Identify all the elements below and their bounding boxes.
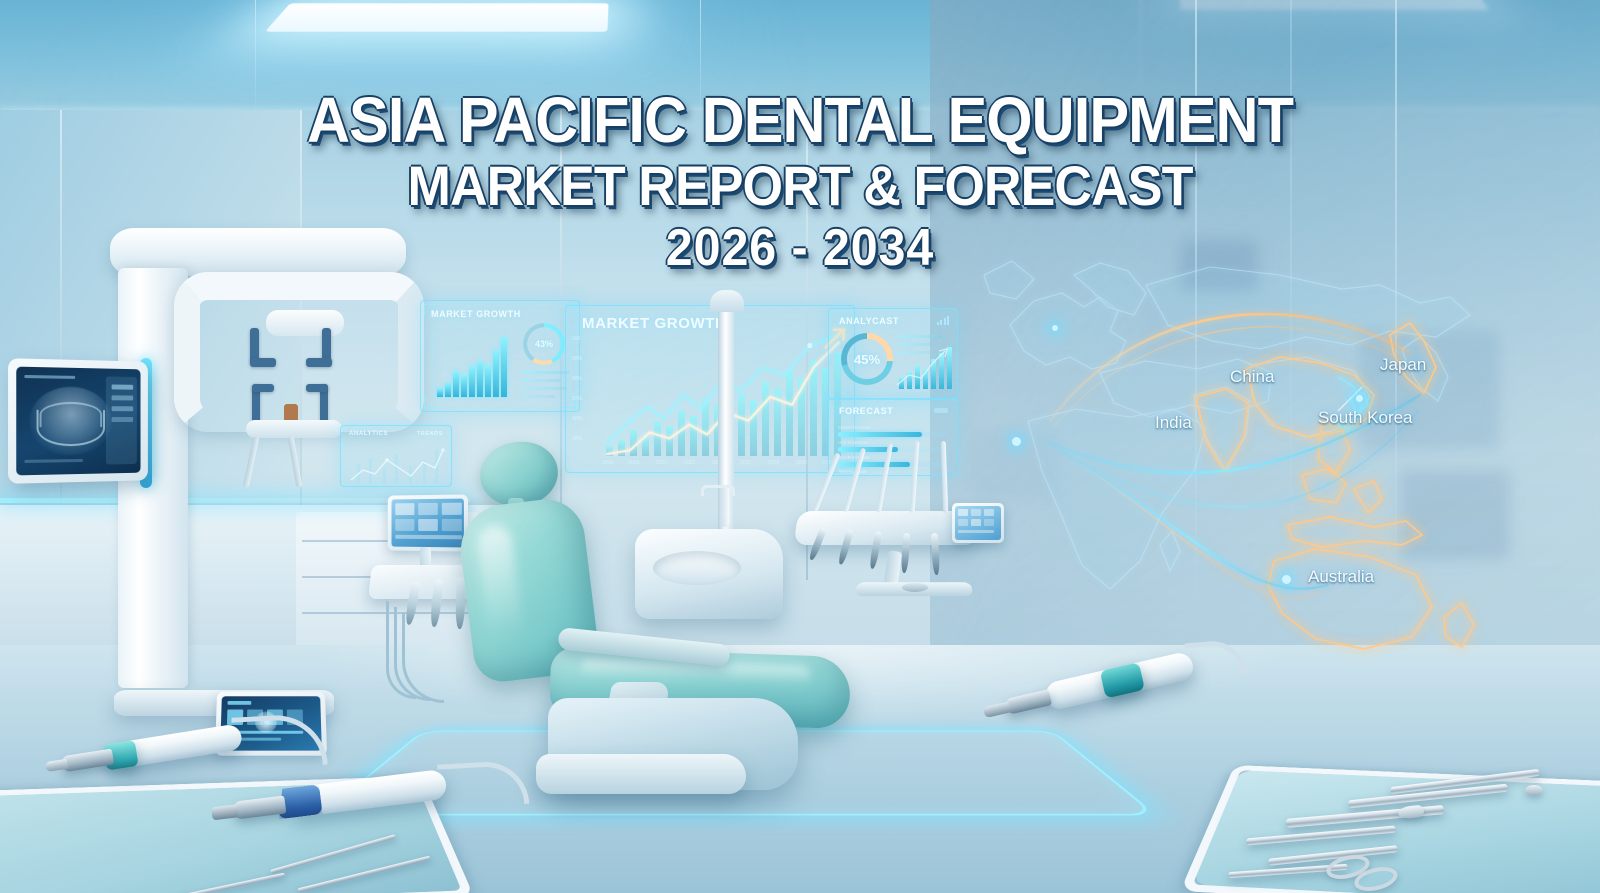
panel-b-ytick-3: 50% [572, 396, 582, 402]
xray-display-monitor[interactable] [8, 358, 148, 484]
panel-c-trend-arrow [895, 345, 953, 391]
xray-upper-arch [40, 402, 103, 428]
ceiling-light-panel [265, 3, 609, 31]
panel-market-growth-large-title: MARKET GROWTH [582, 315, 726, 332]
instrument-mirror-head [1525, 785, 1543, 796]
map-node-east-china [1356, 395, 1363, 402]
world-map-svg [950, 245, 1590, 675]
panel-b-ytick-1: 90% [572, 356, 582, 362]
chair-foot-plate [536, 754, 746, 794]
map-node-europe [1052, 325, 1058, 331]
panel-b-ytick-4: 40% [572, 416, 582, 422]
map-label-japan: Japan [1380, 355, 1426, 375]
map-node-west-africa [1012, 437, 1021, 446]
panel-market-growth-small[interactable]: MARKET GROWTH 43% [420, 300, 580, 412]
map-label-china: China [1230, 367, 1274, 387]
poster-scene: China Japan India South Korea Australia [0, 0, 1600, 893]
panel-analycast-title: ANALYCAST [839, 316, 899, 326]
instrument-arm-touchscreen[interactable] [952, 503, 1004, 543]
cbct-rotating-arm [174, 272, 424, 432]
map-label-south-korea: South Korea [1318, 408, 1413, 428]
panel-forecast-badge [934, 408, 948, 413]
dental-chair [430, 440, 950, 790]
panel-b-ytick-2: 60% [572, 376, 582, 382]
cbct-temple-brace-right2 [306, 358, 332, 367]
panel-side-trend-title: ANALYTICS [349, 431, 388, 437]
cbct-bite-guide-right2 [306, 384, 328, 392]
signal-bars-icon [937, 316, 950, 325]
cbct-temple-brace-left2 [250, 358, 276, 367]
map-label-india: India [1155, 413, 1192, 433]
panel-analycast[interactable]: ANALYCAST 45% [828, 308, 958, 400]
xray-screen [16, 367, 140, 476]
panel-forecast-row-fill-0 [838, 432, 922, 437]
cbct-sensor-head [266, 310, 344, 336]
cbct-support-leg-left [243, 436, 260, 488]
panel-forecast-title: FORECAST [839, 406, 893, 416]
world-map-hologram: China Japan India South Korea Australia [950, 245, 1590, 675]
panel-a-bar-chart [433, 332, 511, 398]
map-node-australia [1282, 575, 1291, 584]
cbct-support-leg-right [288, 436, 303, 488]
panel-market-growth-small-title: MARKET GROWTH [431, 309, 521, 319]
panel-b-ytick-0: 100 [572, 336, 580, 342]
panel-analycast-donut-value: 45% [841, 333, 893, 385]
pole-cap [710, 290, 744, 312]
cbct-chin-rest [246, 420, 342, 438]
panel-a-donut-value: 43% [523, 323, 565, 365]
map-label-australia: Australia [1308, 567, 1374, 587]
panel-forecast-row-label-0: Market Revenue [838, 425, 871, 430]
panel-side-trend-badge: TRENDS [417, 431, 443, 437]
cbct-bite-guide-left2 [252, 384, 274, 392]
